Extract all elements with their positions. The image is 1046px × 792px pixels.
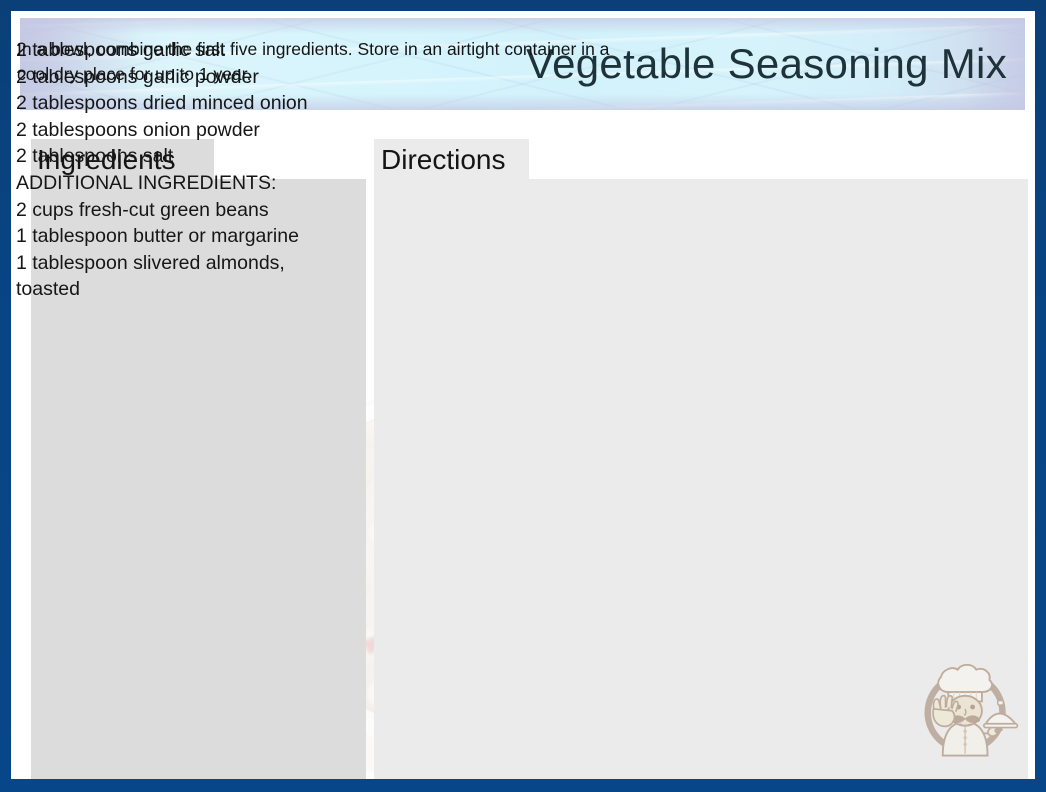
- list-item: 2 tablespoons onion powder: [16, 117, 346, 144]
- list-item: 2 tablespoons dried minced onion: [16, 90, 346, 117]
- list-item: ADDITIONAL INGREDIENTS:: [16, 170, 346, 197]
- list-item: 1 tablespoon slivered almonds, toasted: [16, 250, 346, 303]
- list-item: 2 cups fresh-cut green beans: [16, 197, 346, 224]
- directions-heading: Directions: [381, 146, 505, 174]
- directions-text: In a bowl, combine the first five ingred…: [17, 37, 637, 87]
- recipe-card-frame: Vegetable Seasoning Mix: [0, 0, 1046, 792]
- banner-edge-top: [20, 18, 1025, 34]
- directions-header-tab: Directions: [374, 139, 529, 180]
- list-item: 2 tablespoons salt: [16, 143, 346, 170]
- directions-panel: [374, 179, 1028, 779]
- recipe-card-body: Vegetable Seasoning Mix: [11, 11, 1035, 779]
- list-item: 1 tablespoon butter or margarine: [16, 223, 346, 250]
